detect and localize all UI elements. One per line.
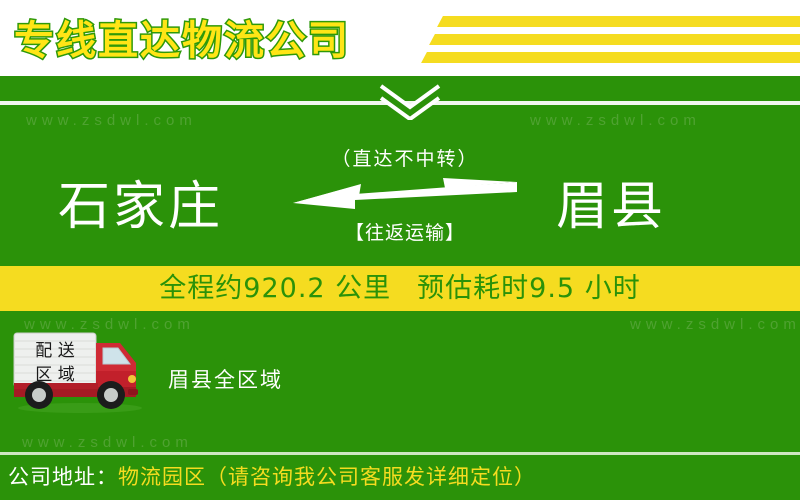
bidirectional-arrow-icon (293, 178, 517, 218)
stats-band: 全程约920.2 公里预估耗时9.5 小时 (0, 266, 800, 311)
chevron-down-icon (379, 84, 441, 120)
delivery-truck-icon: 配 送 区 域 (8, 329, 158, 414)
logistics-banner: 专线直达物流公司 www.zsdwl.com www.zsdwl.com www… (0, 0, 800, 500)
route-row: 石家庄 （直达不中转） 【往返运输】 眉县 (0, 172, 800, 242)
company-tagline: 专线直达物流公司 (14, 8, 350, 66)
divider-bottom (0, 452, 800, 455)
watermark: www.zsdwl.com (530, 112, 701, 129)
route-middle: （直达不中转） 【往返运输】 (280, 144, 530, 274)
watermark: www.zsdwl.com (630, 316, 800, 333)
route-note-top: （直达不中转） (280, 144, 530, 171)
origin-city: 石家庄 (58, 172, 223, 242)
destination-city: 眉县 (556, 172, 666, 242)
address-label: 公司地址： (8, 465, 118, 489)
distance-text: 全程约920.2 公里 (159, 273, 391, 304)
truck-box-line1: 配 送 (35, 341, 74, 361)
footer-address: 公司地址：物流园区（请咨询我公司客服发详细定位） (8, 461, 798, 491)
address-value: 物流园区（请咨询我公司客服发详细定位） (118, 465, 536, 489)
decor-stripe-1 (437, 16, 800, 27)
decor-stripe-3 (421, 52, 800, 63)
route-note-bottom: 【往返运输】 (280, 218, 530, 245)
coverage-area-text: 眉县全区域 (168, 364, 283, 394)
banner-header: 专线直达物流公司 (0, 0, 800, 76)
watermark: www.zsdwl.com (22, 434, 193, 451)
stats-text: 全程约920.2 公里预估耗时9.5 小时 (0, 266, 800, 311)
duration-text: 预估耗时9.5 小时 (417, 273, 641, 304)
watermark: www.zsdwl.com (26, 112, 197, 129)
banner-body: www.zsdwl.com www.zsdwl.com www.zsdwl.co… (0, 76, 800, 500)
decor-stripe-2 (429, 34, 800, 45)
